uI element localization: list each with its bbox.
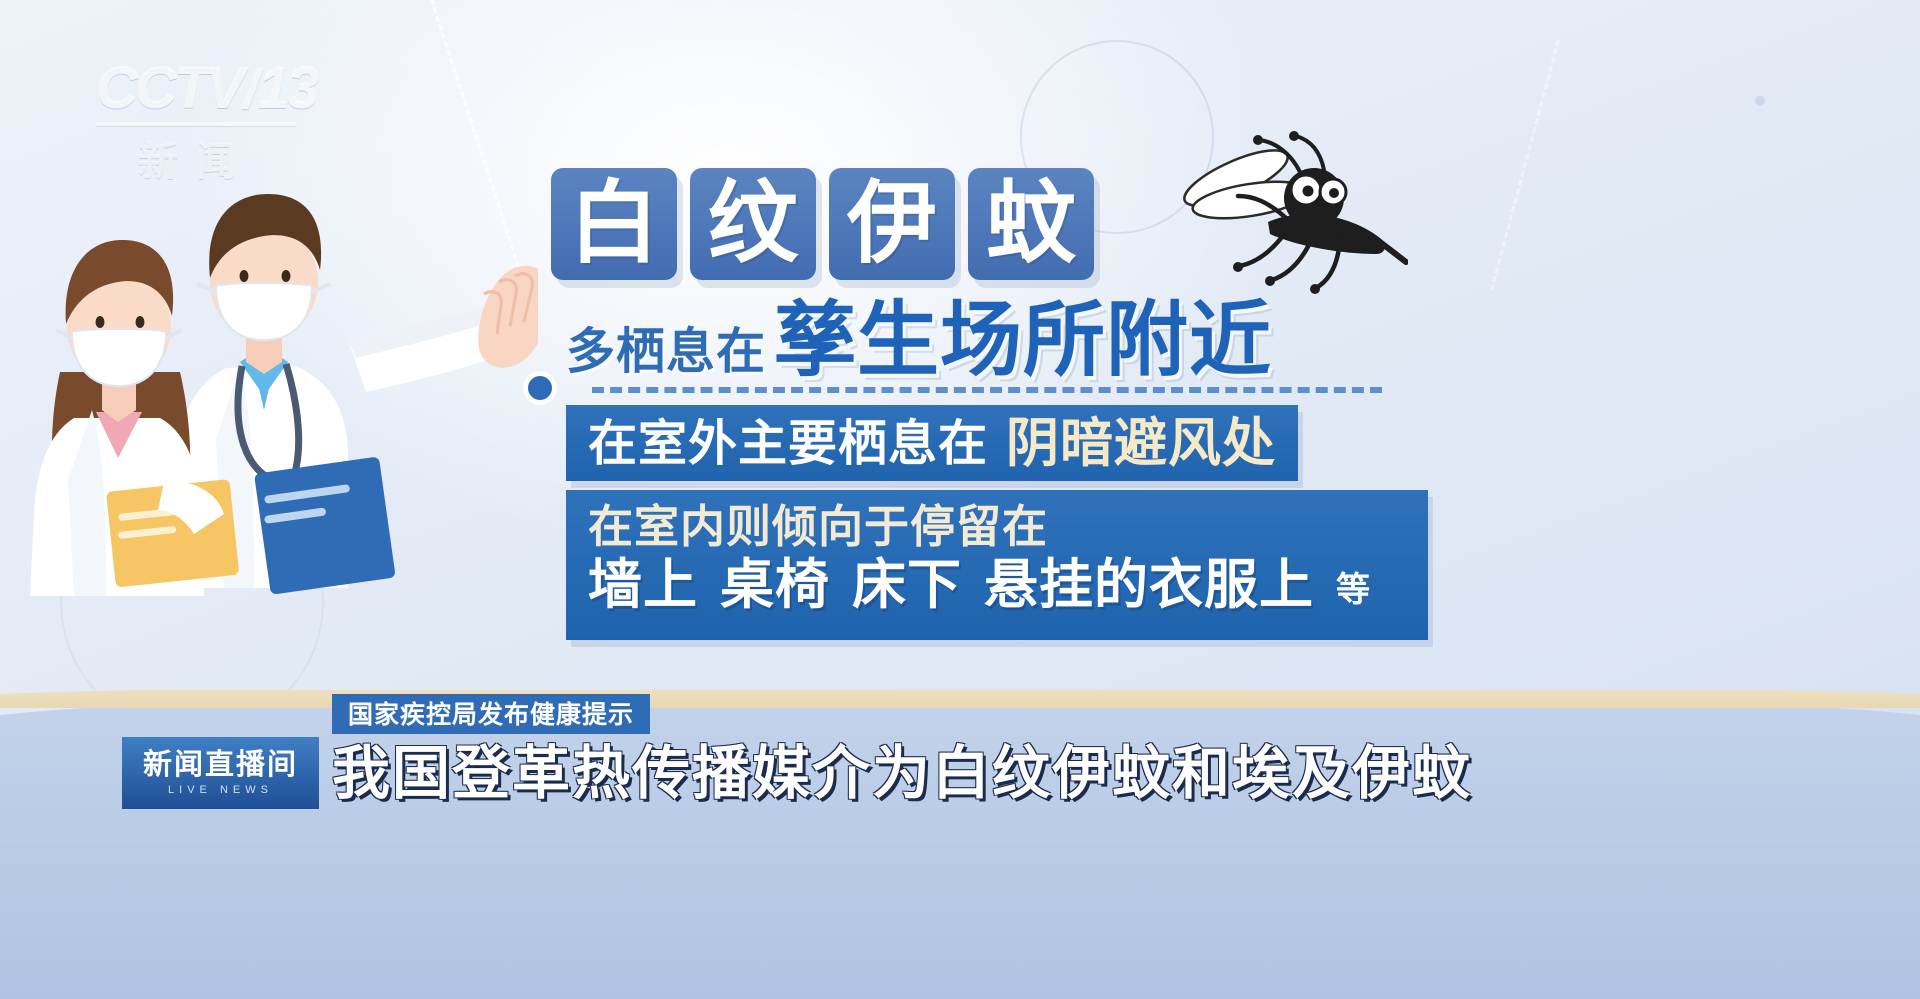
program-name-cn: 新闻直播间 — [143, 750, 298, 779]
doctors-illustration — [18, 110, 538, 630]
title-char: 伊 — [847, 179, 937, 269]
habitat-item: 悬挂的衣服上 — [984, 558, 1314, 612]
broadcast-screen: CCTV / 13 新闻 — [0, 0, 1920, 999]
bullet-dot — [528, 376, 552, 400]
title-char-box: 白 — [551, 168, 677, 280]
title-char: 白 — [569, 179, 659, 269]
cctv-logo-slash: / — [244, 63, 256, 117]
outdoor-habitat-emphasis: 阴暗避风处 — [1006, 417, 1276, 470]
mosquito-icon — [1118, 130, 1408, 300]
news-headline-text: 我国登革热传播媒介为白纹伊蚊和埃及伊蚊 — [332, 744, 1472, 802]
program-name-en: LIVE NEWS — [168, 785, 273, 796]
title-char: 纹 — [708, 179, 798, 269]
waving-hand-icon — [478, 266, 538, 368]
dashed-underline — [592, 387, 1382, 393]
outdoor-habitat-text: 在室外主要栖息在 — [588, 419, 988, 468]
water-crest — [0, 690, 1920, 708]
title-char: 蚊 — [986, 179, 1076, 269]
news-headline: 我国登革热传播媒介为白纹伊蚊和埃及伊蚊 — [332, 736, 1472, 810]
habitat-line-lead: 多栖息在 — [566, 327, 766, 382]
habitat-line-emphasis: 孳生场所附近 — [774, 300, 1272, 382]
habitat-item: 床下 — [852, 558, 962, 612]
indoor-habitat-items: 墙上 桌椅 床下 悬挂的衣服上 等 — [588, 558, 1406, 612]
news-kicker-text: 国家疾控局发布健康提示 — [348, 702, 634, 727]
infographic-title: 白 纹 伊 蚊 — [551, 168, 1094, 280]
title-char-box: 伊 — [829, 168, 955, 280]
title-char-box: 纹 — [690, 168, 816, 280]
habitat-item: 墙上 — [588, 558, 698, 612]
outdoor-habitat-band: 在室外主要栖息在 阴暗避风处 — [566, 405, 1298, 481]
title-char-box: 蚊 — [968, 168, 1094, 280]
habitat-item: 桌椅 — [720, 558, 830, 612]
habitat-line-primary: 多栖息在 孳生场所附近 — [566, 300, 1272, 382]
news-kicker: 国家疾控局发布健康提示 — [332, 694, 650, 734]
program-logo: 新闻直播间 LIVE NEWS — [122, 737, 319, 809]
indoor-habitat-band: 在室内则倾向于停留在 墙上 桌椅 床下 悬挂的衣服上 等 — [566, 490, 1428, 640]
habitat-items-tail: 等 — [1336, 573, 1370, 612]
indoor-habitat-lead: 在室内则倾向于停留在 — [588, 502, 1406, 552]
